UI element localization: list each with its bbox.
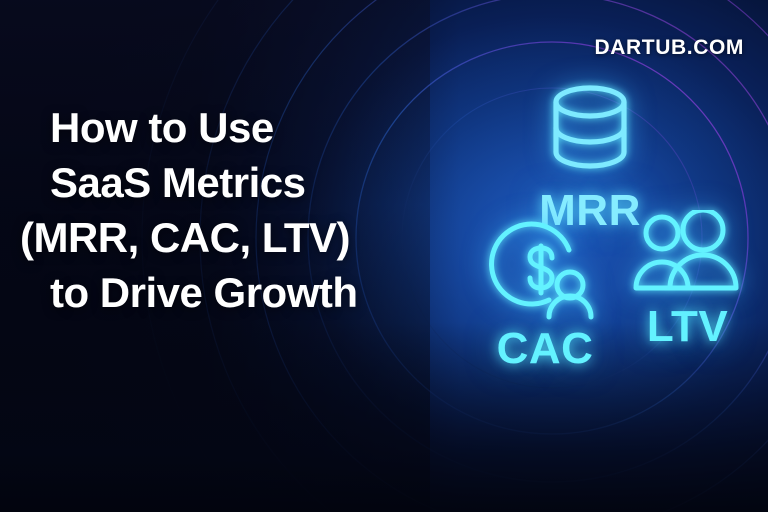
two-people-icon — [605, 210, 768, 301]
metric-ltv: LTV — [605, 210, 768, 349]
title-line-3: (MRR, CAC, LTV) — [20, 210, 440, 265]
brand-watermark: DARTUB.COM — [595, 36, 744, 60]
title-line-1: How to Use — [20, 100, 440, 155]
database-cylinder-icon — [500, 80, 680, 185]
title-line-2: SaaS Metrics — [20, 155, 440, 210]
page-title: How to Use SaaS Metrics (MRR, CAC, LTV) … — [20, 100, 440, 320]
metrics-cluster: MRR CAC — [440, 60, 768, 400]
title-line-4: to Drive Growth — [20, 265, 440, 320]
banner-graphic: DARTUB.COM How to Use SaaS Metrics (MRR,… — [0, 0, 768, 512]
metric-ltv-label: LTV — [605, 305, 768, 349]
